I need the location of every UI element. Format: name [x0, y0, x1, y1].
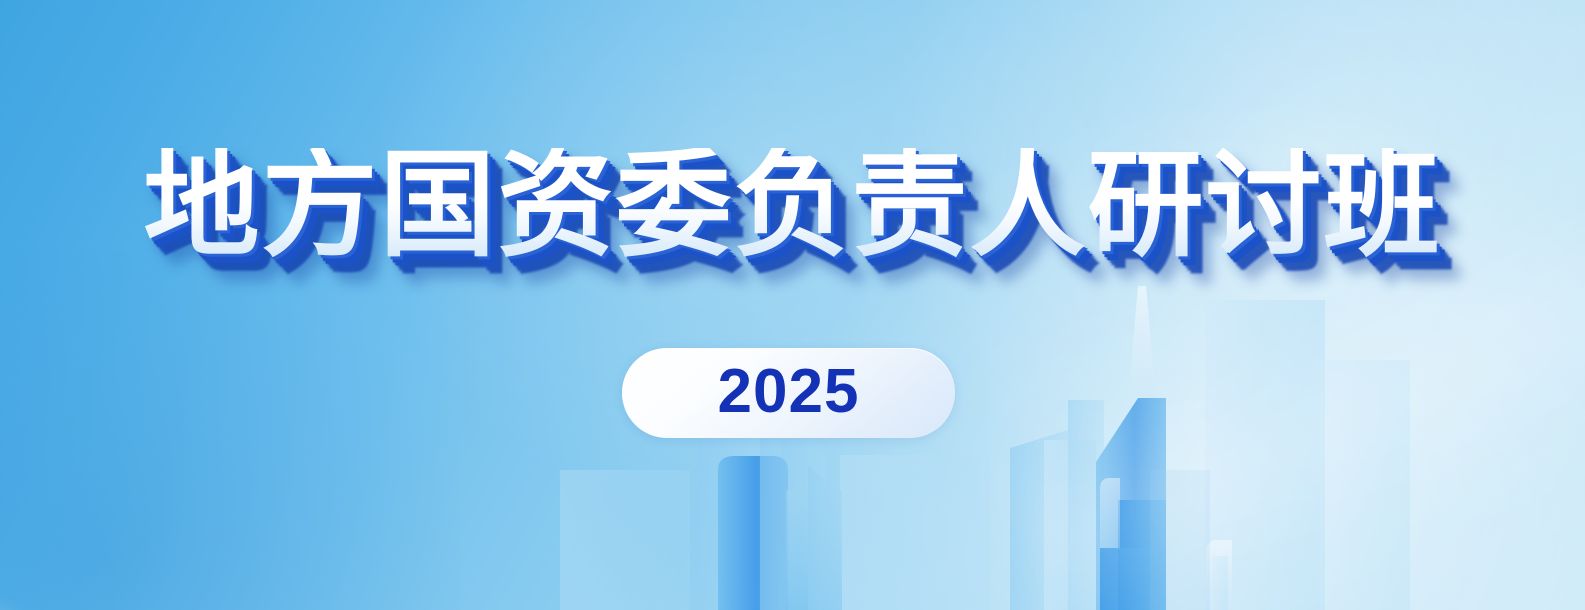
- banner-title: 地方国资委负责人研讨班: [144, 148, 1442, 264]
- light-streak-bottom-left: [0, 535, 385, 610]
- background-glow-bottom-left: [0, 250, 460, 610]
- event-banner: 地方国资委负责人研讨班 2025: [0, 0, 1585, 610]
- skyline-illustration: [0, 0, 1585, 610]
- light-streak-bottom-right: [1046, 574, 1585, 610]
- title-container: 地方国资委负责人研讨班: [0, 148, 1585, 264]
- light-streak-top-right: [953, 0, 1585, 610]
- year-badge-label: 2025: [718, 361, 860, 423]
- year-badge: 2025: [622, 348, 955, 438]
